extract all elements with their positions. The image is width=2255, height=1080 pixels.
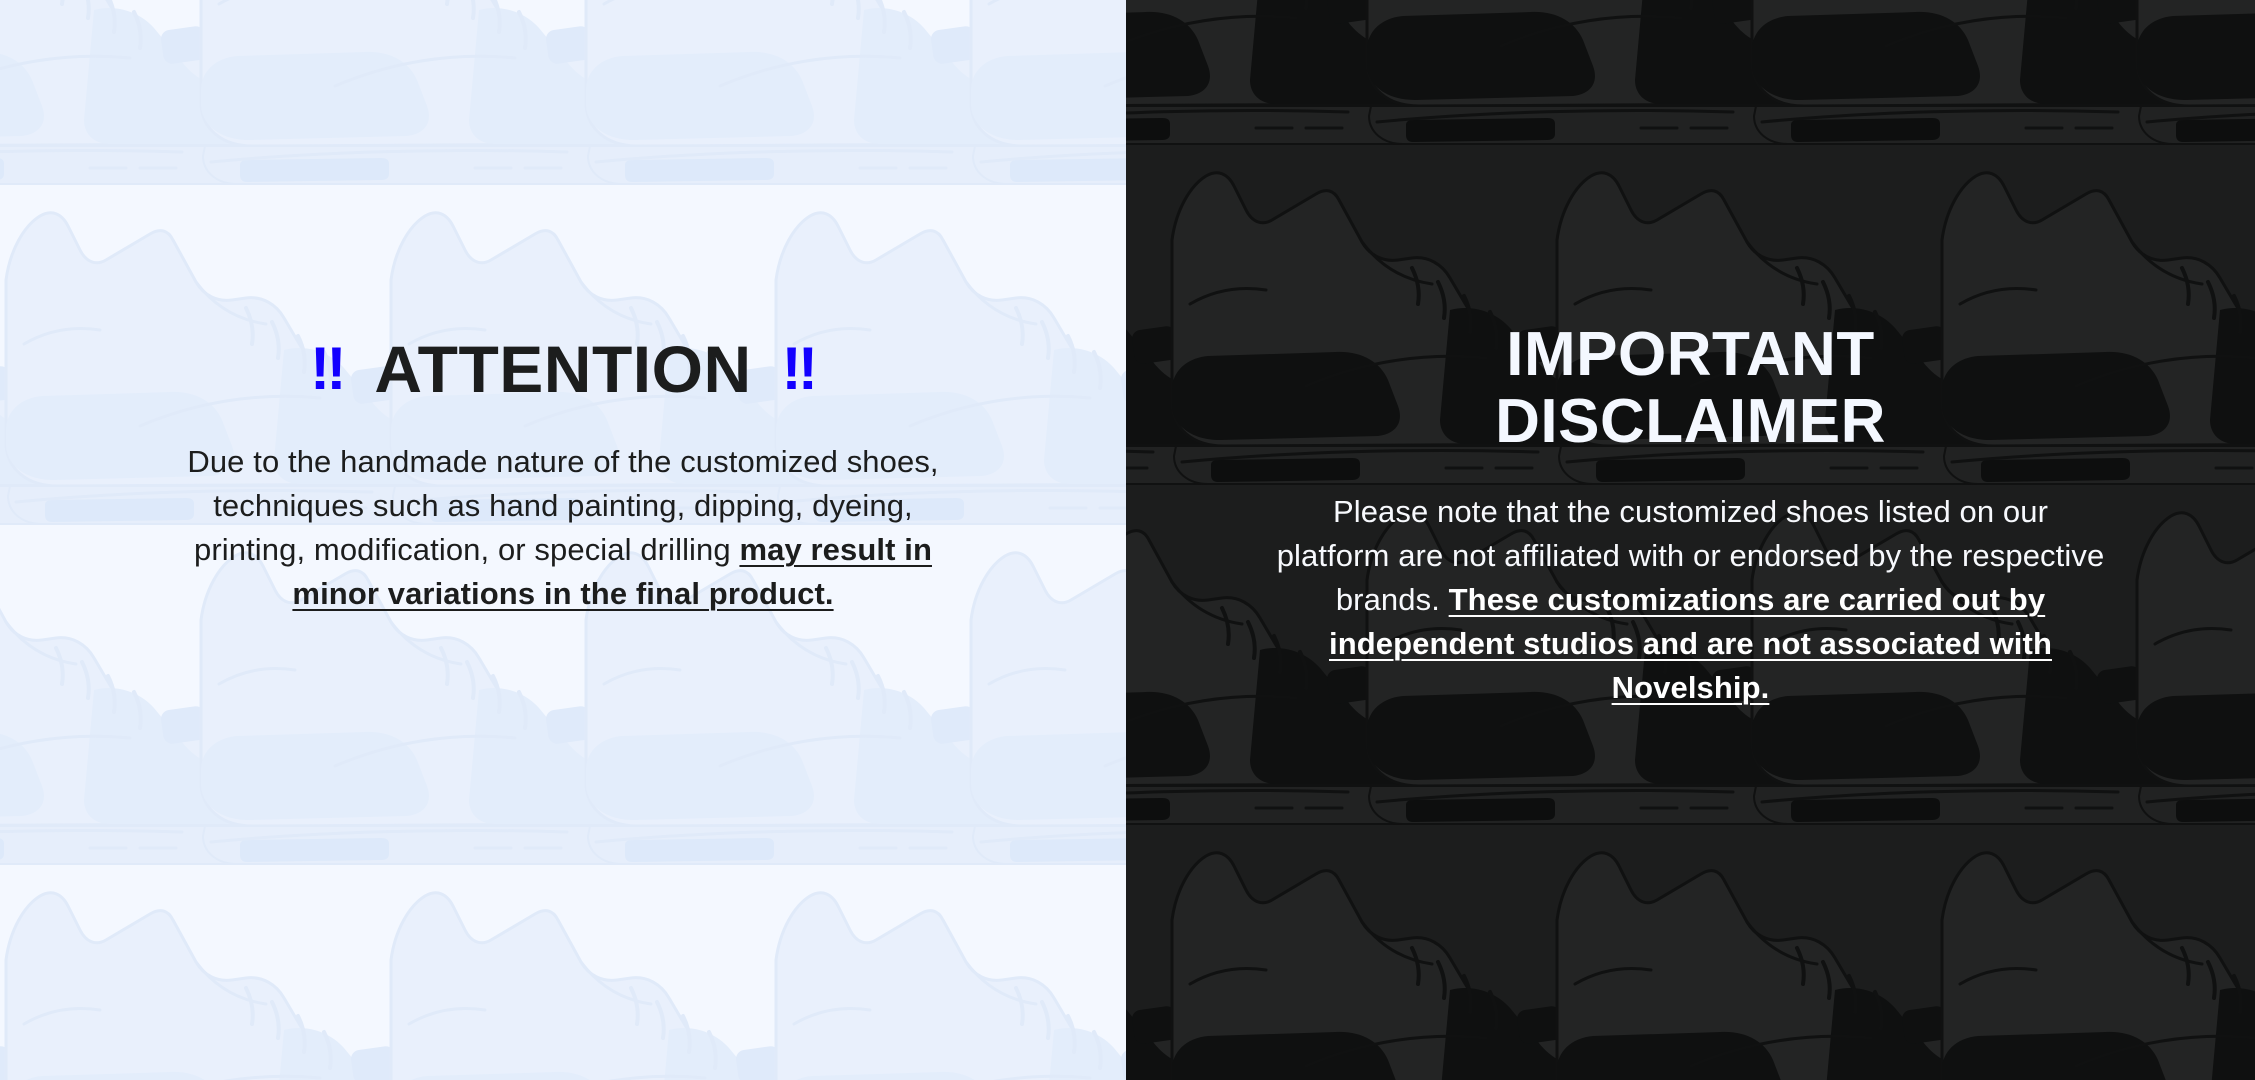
double-exclamation-left-icon: ‼ — [310, 339, 344, 399]
disclaimer-heading-line-2: DISCLAIMER — [1495, 389, 1886, 456]
double-exclamation-right-icon: ‼ — [782, 339, 816, 399]
attention-heading-word: ATTENTION — [374, 336, 751, 402]
disclaimer-body-text: Please note that the customized shoes li… — [1276, 490, 2106, 710]
attention-heading: ‼ ATTENTION ‼ — [310, 336, 816, 402]
attention-body-text: Due to the handmade nature of the custom… — [168, 440, 958, 616]
promo-banner: ‼ ATTENTION ‼ Due to the handmade nature… — [0, 0, 2255, 1080]
disclaimer-panel: IMPORTANT DISCLAIMER Please note that th… — [1126, 0, 2255, 1080]
disclaimer-heading-line-1: IMPORTANT — [1495, 322, 1886, 389]
disclaimer-content: IMPORTANT DISCLAIMER Please note that th… — [1126, 0, 2255, 710]
disclaimer-heading: IMPORTANT DISCLAIMER — [1495, 322, 1886, 456]
attention-content: ‼ ATTENTION ‼ Due to the handmade nature… — [0, 0, 1126, 616]
attention-panel: ‼ ATTENTION ‼ Due to the handmade nature… — [0, 0, 1126, 1080]
